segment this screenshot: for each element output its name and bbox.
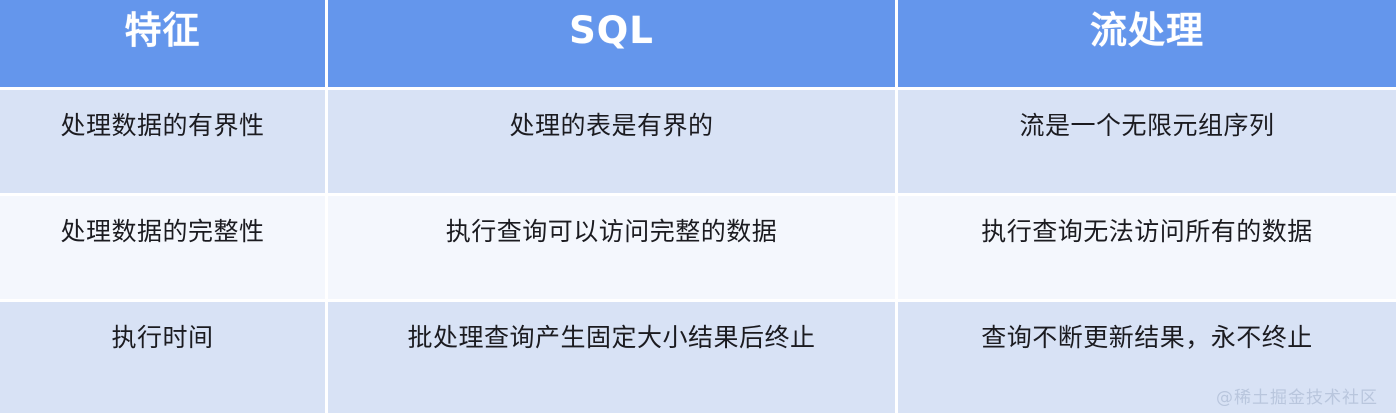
- table-header-row: 特征 SQL 流处理: [0, 0, 1396, 90]
- table-row: 处理数据的完整性 执行查询可以访问完整的数据 执行查询无法访问所有的数据: [0, 196, 1396, 302]
- cell-sql-boundedness: 处理的表是有界的: [328, 90, 898, 196]
- table-body: 处理数据的有界性 处理的表是有界的 流是一个无限元组序列 处理数据的完整性 执行…: [0, 90, 1396, 413]
- table-row: 处理数据的有界性 处理的表是有界的 流是一个无限元组序列: [0, 90, 1396, 196]
- column-header-feature: 特征: [0, 0, 328, 90]
- table-header: 特征 SQL 流处理: [0, 0, 1396, 90]
- column-header-stream: 流处理: [898, 0, 1396, 90]
- cell-feature-execution-time: 执行时间: [0, 302, 328, 413]
- cell-stream-execution-time: 查询不断更新结果，永不终止: [898, 302, 1396, 413]
- cell-stream-boundedness: 流是一个无限元组序列: [898, 90, 1396, 196]
- cell-stream-completeness: 执行查询无法访问所有的数据: [898, 196, 1396, 302]
- comparison-table-root: 特征 SQL 流处理 处理数据的有界性 处理的表是有界的 流是一个无限元组序列 …: [0, 0, 1396, 416]
- cell-feature-boundedness: 处理数据的有界性: [0, 90, 328, 196]
- cell-feature-completeness: 处理数据的完整性: [0, 196, 328, 302]
- column-header-sql: SQL: [328, 0, 898, 90]
- table-row: 执行时间 批处理查询产生固定大小结果后终止 查询不断更新结果，永不终止: [0, 302, 1396, 413]
- cell-sql-execution-time: 批处理查询产生固定大小结果后终止: [328, 302, 898, 413]
- sql-vs-stream-comparison-table: 特征 SQL 流处理 处理数据的有界性 处理的表是有界的 流是一个无限元组序列 …: [0, 0, 1396, 413]
- cell-sql-completeness: 执行查询可以访问完整的数据: [328, 196, 898, 302]
